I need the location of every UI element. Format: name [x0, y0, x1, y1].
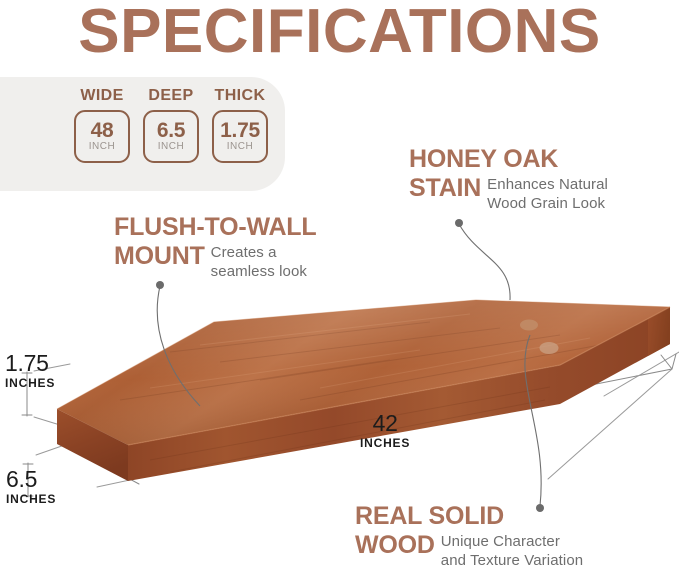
- callout-flush-sub: Creates a seamless look: [211, 243, 307, 281]
- leader-line-honey-oak: [459, 224, 510, 300]
- callout-honey-oak-sub-line2: Wood Grain Look: [487, 195, 605, 212]
- callout-real-wood-sub: Unique Character and Texture Variation: [441, 532, 583, 569]
- callout-flush-to-wall: FLUSH-TO-WALL MOUNT Creates a seamless l…: [114, 213, 376, 281]
- callout-real-solid-wood: REAL SOLID WOOD Unique Character and Tex…: [355, 502, 655, 569]
- callout-flush-sub-line1: Creates a: [211, 244, 277, 261]
- dimension-depth-unit: INCHES: [6, 492, 56, 506]
- callout-flush-line2: MOUNT: [114, 242, 205, 271]
- callout-real-wood-sub-line1: Unique Character: [441, 533, 560, 550]
- callout-honey-oak: HONEY OAK STAIN Enhances Natural Wood Gr…: [409, 145, 671, 213]
- callout-flush-sub-line2: seamless look: [211, 263, 307, 280]
- dimension-thickness-value: 1.75: [5, 350, 55, 376]
- leader-dot-flush-to-wall: [156, 281, 164, 289]
- dimension-width-unit: INCHES: [360, 436, 410, 450]
- callout-honey-oak-sub: Enhances Natural Wood Grain Look: [487, 175, 608, 213]
- dimension-depth-value: 6.5: [6, 466, 56, 492]
- callout-real-wood-line2: WOOD: [355, 531, 435, 560]
- dimension-label-depth: 6.5 INCHES: [6, 466, 56, 506]
- leader-dot-honey-oak: [455, 219, 463, 227]
- plank-plug-mark-lower: [540, 342, 559, 354]
- specifications-infographic: SPECIFICATIONS WIDE 48 INCH DEEP 6.5 INC…: [0, 0, 679, 569]
- callout-honey-oak-line2: STAIN: [409, 174, 481, 203]
- callout-real-wood-line1: REAL SOLID: [355, 502, 655, 531]
- product-illustration: [0, 0, 679, 569]
- dimension-label-width: 42 INCHES: [360, 410, 410, 450]
- callout-flush-line1: FLUSH-TO-WALL: [114, 213, 376, 242]
- wood-plank: [57, 300, 670, 481]
- dimension-label-thickness: 1.75 INCHES: [5, 350, 55, 390]
- callout-honey-oak-sub-line1: Enhances Natural: [487, 176, 608, 193]
- callout-real-wood-sub-line2: and Texture Variation: [441, 552, 583, 569]
- dimension-thickness-unit: INCHES: [5, 376, 55, 390]
- dimension-width-value: 42: [360, 410, 410, 436]
- plank-plug-mark-upper: [520, 320, 538, 331]
- callout-honey-oak-line1: HONEY OAK: [409, 145, 671, 174]
